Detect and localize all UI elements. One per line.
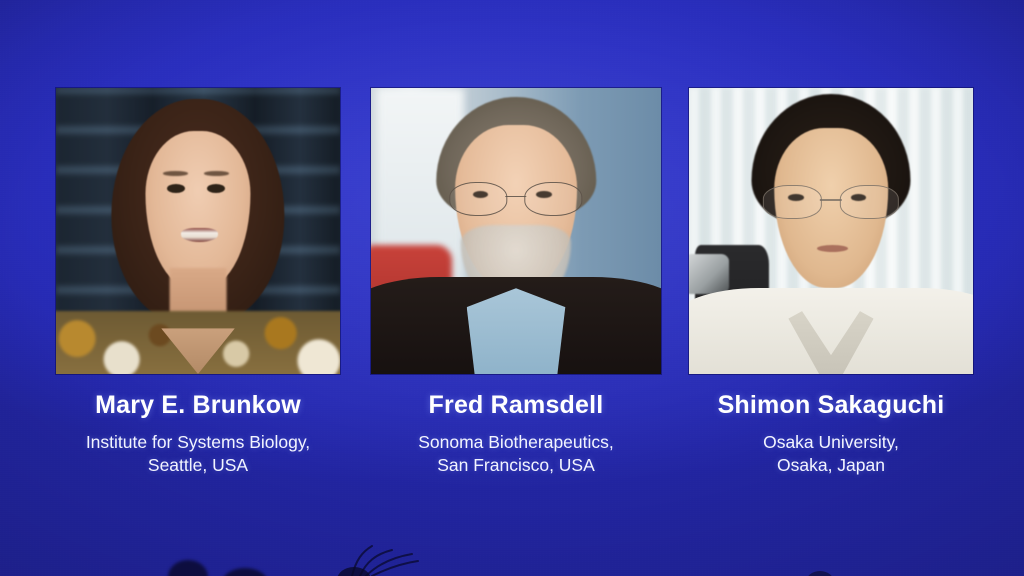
laureate-affiliation: Institute for Systems Biology, Seattle, … — [56, 431, 340, 477]
laureate-card-2: Fred Ramsdell Sonoma Biotherapeutics, Sa… — [371, 88, 661, 477]
affiliation-line-2: San Francisco, USA — [371, 454, 661, 477]
lens-right — [525, 182, 583, 215]
laureate-photo-3 — [689, 88, 973, 374]
laureate-grid: Mary E. Brunkow Institute for Systems Bi… — [0, 0, 1024, 576]
affiliation-line-2: Osaka, Japan — [689, 454, 973, 477]
laureate-photo-2 — [371, 88, 661, 374]
laureate-name: Shimon Sakaguchi — [689, 392, 973, 420]
laureate-affiliation: Sonoma Biotherapeutics, San Francisco, U… — [371, 431, 661, 477]
affiliation-line-2: Seattle, USA — [56, 454, 340, 477]
eyebrow-right — [204, 171, 230, 176]
lens-right — [840, 185, 899, 218]
presentation-screen: Mary E. Brunkow Institute for Systems Bi… — [0, 0, 1024, 576]
glasses-icon — [449, 182, 582, 213]
laureate-name: Fred Ramsdell — [371, 392, 661, 420]
glasses-icon — [763, 185, 899, 216]
lens-left — [449, 182, 507, 215]
bridge — [820, 199, 842, 201]
laureate-photo-1 — [56, 88, 340, 374]
affiliation-line-1: Sonoma Biotherapeutics, — [371, 431, 661, 454]
eye-right — [207, 184, 225, 193]
lens-left — [763, 185, 822, 218]
laureate-caption-1: Mary E. Brunkow Institute for Systems Bi… — [56, 392, 340, 477]
laureate-card-3: Shimon Sakaguchi Osaka University, Osaka… — [689, 88, 973, 477]
affiliation-line-1: Institute for Systems Biology, — [56, 431, 340, 454]
laureate-caption-3: Shimon Sakaguchi Osaka University, Osaka… — [689, 392, 973, 477]
bridge — [505, 196, 526, 198]
laureate-name: Mary E. Brunkow — [56, 392, 340, 420]
eye-left — [167, 184, 185, 193]
laureate-affiliation: Osaka University, Osaka, Japan — [689, 431, 973, 477]
equipment-shape — [689, 254, 729, 294]
laureate-caption-2: Fred Ramsdell Sonoma Biotherapeutics, Sa… — [371, 392, 661, 477]
affiliation-line-1: Osaka University, — [689, 431, 973, 454]
laureate-card-1: Mary E. Brunkow Institute for Systems Bi… — [56, 88, 340, 477]
eyebrow-left — [163, 171, 189, 176]
